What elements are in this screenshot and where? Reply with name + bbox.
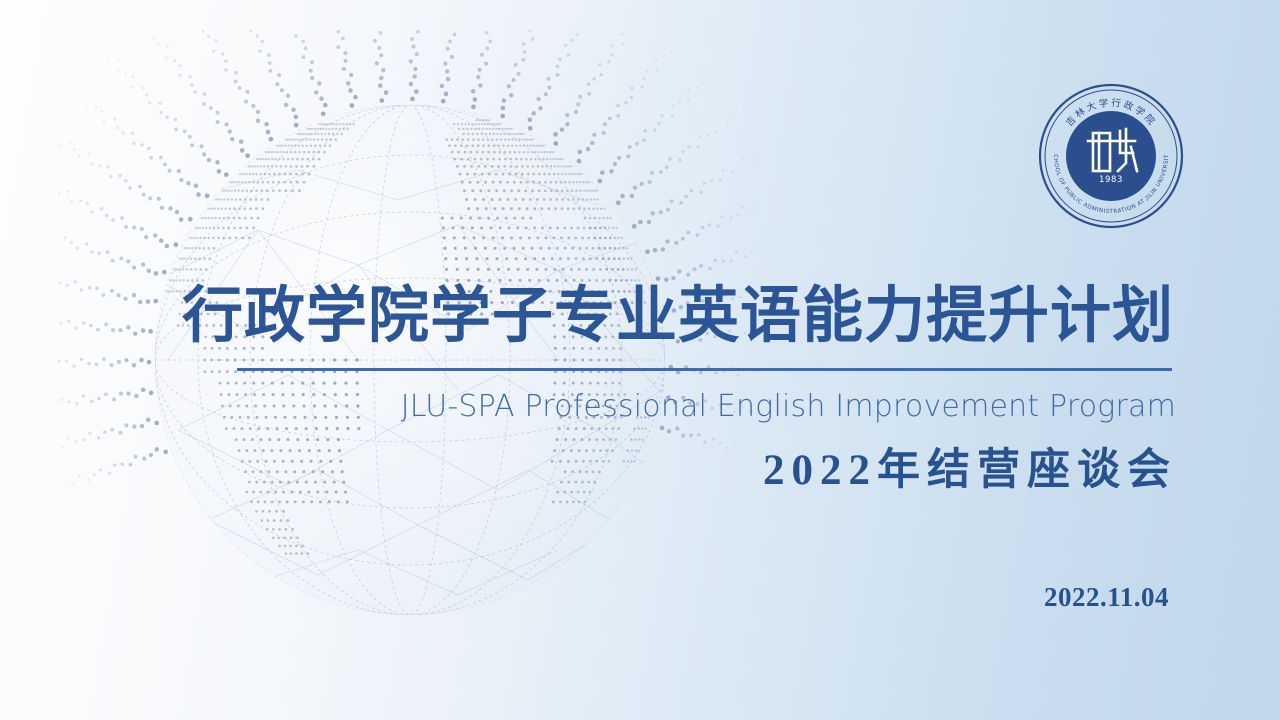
slide-date: 2022.11.04 xyxy=(0,580,1169,614)
title-block: 行政学院学子专业英语能力提升计划 JLU-SPA Professional En… xyxy=(0,0,1280,720)
subtitle-english: JLU-SPA Professional English Improvement… xyxy=(0,387,1176,427)
presentation-slide: 吉林大学行政学院 SCHOOL OF PUBLIC ADMINISTRATION… xyxy=(0,0,1280,720)
subtitle-chinese: 2022年结营座谈会 xyxy=(0,443,1177,499)
page-title: 行政学院学子专业英语能力提升计划 xyxy=(0,283,1174,351)
title-divider xyxy=(237,368,1172,371)
